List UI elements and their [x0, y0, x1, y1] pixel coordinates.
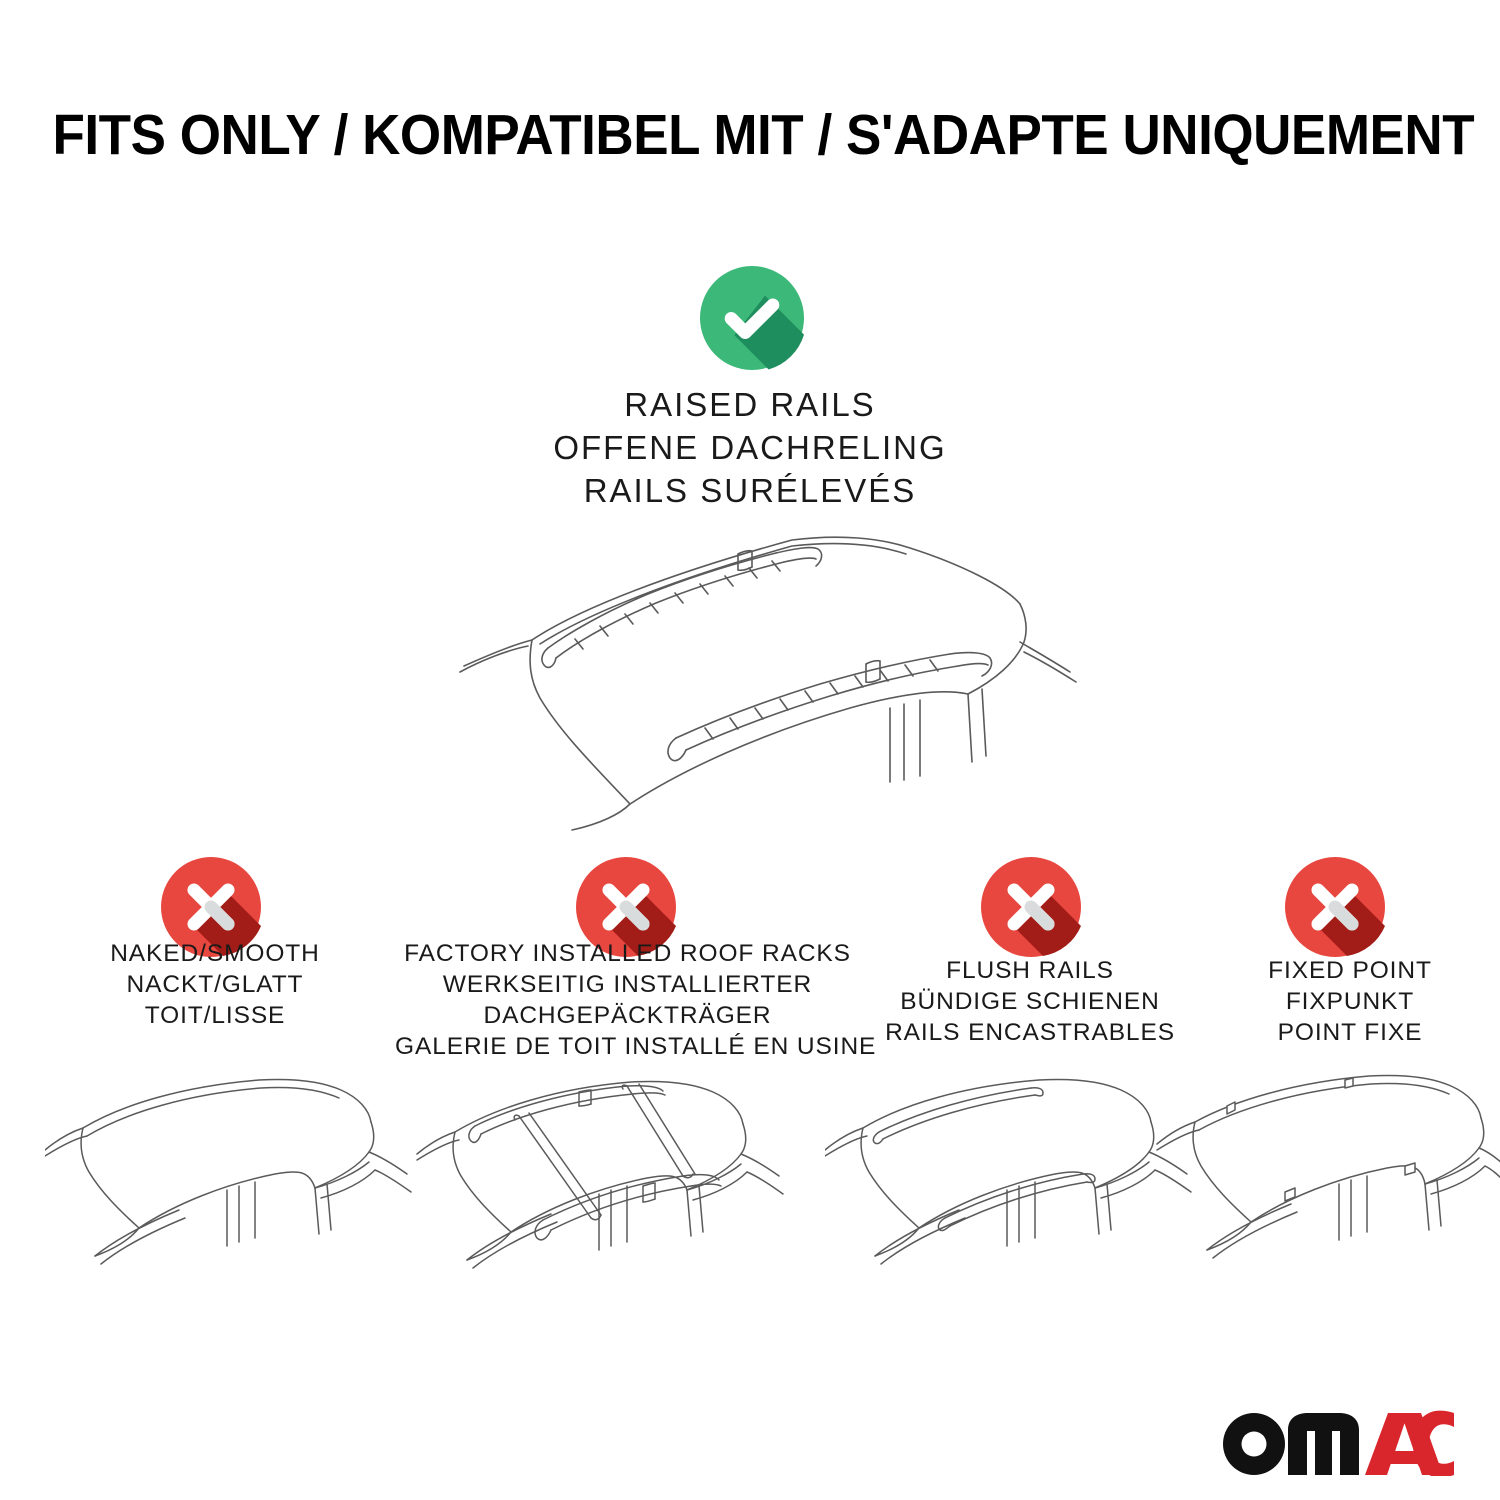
incompatible-2-label-de-2: DACHGEPÄCKTRÄGER: [395, 1000, 860, 1031]
page-title: FITS ONLY / KOMPATIBEL MIT / S'ADAPTE UN…: [53, 104, 1448, 166]
car-roof-naked-smooth-illustration: [45, 1058, 415, 1303]
incompatible-1-label-en: NAKED/SMOOTH: [35, 938, 395, 969]
cross-circle-icon: [1285, 857, 1385, 957]
incompatible-3-label-fr: RAILS ENCASTRABLES: [865, 1017, 1195, 1048]
incompatible-4-label-de: FIXPUNKT: [1205, 986, 1495, 1017]
incompatible-4-label-en: FIXED POINT: [1205, 955, 1495, 986]
incompatible-caption-flush-rails: FLUSH RAILS BÜNDIGE SCHIENEN RAILS ENCAS…: [865, 955, 1195, 1048]
incompatible-1-label-de: NACKT/GLATT: [35, 969, 395, 1000]
compatible-caption: RAISED RAILS OFFENE DACHRELING RAILS SUR…: [450, 383, 1050, 512]
car-roof-flush-rails-illustration: [825, 1058, 1195, 1303]
car-roof-factory-racks-illustration: [415, 1058, 785, 1303]
compatible-label-fr: RAILS SURÉLEVÉS: [450, 469, 1050, 512]
cross-circle-icon: [981, 857, 1081, 957]
incompatible-1-label-fr: TOIT/LISSE: [35, 1000, 395, 1031]
compatible-label-en: RAISED RAILS: [450, 383, 1050, 426]
incompatible-2-label-en: FACTORY INSTALLED ROOF RACKS: [395, 938, 860, 969]
incompatible-3-label-en: FLUSH RAILS: [865, 955, 1195, 986]
incompatible-2-label-de-1: WERKSEITIG INSTALLIERTER: [395, 969, 860, 1000]
car-roof-raised-rails-illustration: [420, 512, 1088, 832]
car-roof-fixed-point-illustration: [1155, 1058, 1500, 1303]
incompatible-caption-fixed-point: FIXED POINT FIXPUNKT POINT FIXE: [1205, 955, 1495, 1048]
incompatible-caption-factory-racks: FACTORY INSTALLED ROOF RACKS WERKSEITIG …: [395, 938, 860, 1062]
compatible-label-de: OFFENE DACHRELING: [450, 426, 1050, 469]
incompatible-caption-naked-smooth: NAKED/SMOOTH NACKT/GLATT TOIT/LISSE: [35, 938, 395, 1031]
omac-logo: [1222, 1404, 1454, 1476]
incompatible-4-label-fr: POINT FIXE: [1205, 1017, 1495, 1048]
incompatible-3-label-de: BÜNDIGE SCHIENEN: [865, 986, 1195, 1017]
check-circle-icon: [700, 266, 804, 370]
